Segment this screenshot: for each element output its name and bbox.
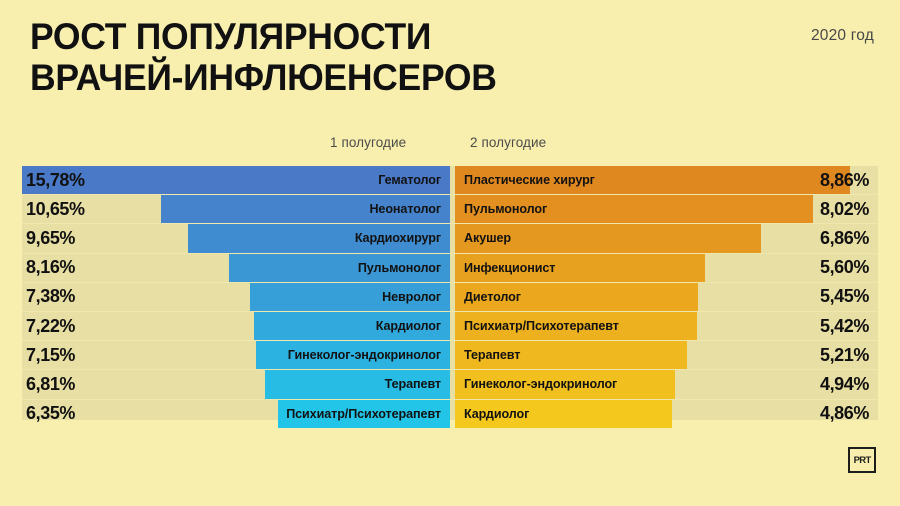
- chart-row: Гинеколог-эндокринолог7,15%Терапевт5,21%: [22, 340, 878, 369]
- bar-value-first-half: 9,65%: [26, 224, 75, 252]
- column-caption-first-half: 1 полугодие: [330, 135, 406, 150]
- bar-value-second-half: 5,21%: [820, 341, 869, 369]
- bar-value-second-half: 4,86%: [820, 400, 869, 428]
- page-title: РОСТ ПОПУЛЯРНОСТИ ВРАЧЕЙ-ИНФЛЮЕНСЕРОВ: [30, 16, 702, 99]
- row-left-half: Неонатолог10,65%: [22, 195, 450, 223]
- bar-value-first-half: 7,38%: [26, 283, 75, 311]
- bar-label-first-half: Кардиохирург: [355, 231, 441, 245]
- chart-row: Гематолог15,78%Пластические хирург8,86%: [22, 166, 878, 194]
- bar-label-second-half: Диетолог: [464, 283, 521, 311]
- bar-first-half: Кардиохирург: [188, 224, 450, 252]
- row-right-half: Акушер6,86%: [455, 224, 878, 252]
- row-right-half: Психиатр/Психотерапевт5,42%: [455, 312, 878, 340]
- bar-first-half: Психиатр/Психотерапевт: [278, 400, 450, 428]
- row-right-half: Пульмонолог8,02%: [455, 195, 878, 223]
- bar-first-half: Терапевт: [265, 370, 450, 398]
- chart-band: Гематолог15,78%Пластические хирург8,86%Н…: [22, 166, 878, 420]
- chart-row: Невролог7,38%Диетолог5,45%: [22, 282, 878, 311]
- bar-label-second-half: Кардиолог: [464, 400, 529, 428]
- row-left-half: Кардиолог7,22%: [22, 312, 450, 340]
- bar-label-first-half: Терапевт: [385, 377, 441, 391]
- year-label: 2020 год: [811, 27, 874, 45]
- row-left-half: Терапевт6,81%: [22, 370, 450, 398]
- bar-value-second-half: 5,60%: [820, 254, 869, 282]
- bar-label-second-half: Психиатр/Психотерапевт: [464, 312, 619, 340]
- bar-value-second-half: 5,45%: [820, 283, 869, 311]
- bar-label-first-half: Гинеколог-эндокринолог: [288, 348, 441, 362]
- infographic-page: РОСТ ПОПУЛЯРНОСТИ ВРАЧЕЙ-ИНФЛЮЕНСЕРОВ 20…: [0, 0, 900, 506]
- bar-label-first-half: Кардиолог: [376, 319, 441, 333]
- row-right-half: Терапевт5,21%: [455, 341, 878, 369]
- bar-first-half: Гинеколог-эндокринолог: [256, 341, 450, 369]
- row-right-half: Диетолог5,45%: [455, 283, 878, 311]
- bar-label-first-half: Невролог: [382, 290, 441, 304]
- bar-label-first-half: Неонатолог: [369, 202, 441, 216]
- chart-row: Психиатр/Психотерапевт6,35%Кардиолог4,86…: [22, 399, 878, 428]
- bar-value-first-half: 15,78%: [26, 166, 85, 194]
- chart-row: Пульмонолог8,16%Инфекционист5,60%: [22, 253, 878, 282]
- bar-value-first-half: 8,16%: [26, 254, 75, 282]
- bar-label-second-half: Пульмонолог: [464, 195, 547, 223]
- bar-value-first-half: 7,22%: [26, 312, 75, 340]
- bar-first-half: Пульмонолог: [229, 254, 450, 282]
- row-left-half: Кардиохирург9,65%: [22, 224, 450, 252]
- bar-first-half: Кардиолог: [254, 312, 450, 340]
- bar-value-first-half: 7,15%: [26, 341, 75, 369]
- bar-value-second-half: 5,42%: [820, 312, 869, 340]
- bar-value-first-half: 6,35%: [26, 400, 75, 428]
- bar-first-half: Неонатолог: [161, 195, 450, 223]
- row-right-half: Кардиолог4,86%: [455, 400, 878, 428]
- row-right-half: Инфекционист5,60%: [455, 254, 878, 282]
- row-left-half: Пульмонолог8,16%: [22, 254, 450, 282]
- row-left-half: Гинеколог-эндокринолог7,15%: [22, 341, 450, 369]
- row-left-half: Психиатр/Психотерапевт6,35%: [22, 400, 450, 428]
- chart-row: Терапевт6,81%Гинеколог-эндокринолог4,94%: [22, 369, 878, 398]
- row-left-half: Невролог7,38%: [22, 283, 450, 311]
- publisher-logo: PRT: [848, 447, 876, 473]
- chart-row: Кардиолог7,22%Психиатр/Психотерапевт5,42…: [22, 311, 878, 340]
- bar-label-second-half: Пластические хирург: [464, 166, 595, 194]
- chart-row: Кардиохирург9,65%Акушер6,86%: [22, 223, 878, 252]
- bar-first-half: Гематолог: [22, 166, 450, 194]
- bar-first-half: Невролог: [250, 283, 450, 311]
- bar-value-first-half: 10,65%: [26, 195, 85, 223]
- bar-label-second-half: Терапевт: [464, 341, 520, 369]
- bar-value-second-half: 4,94%: [820, 370, 869, 398]
- row-right-half: Пластические хирург8,86%: [455, 166, 878, 194]
- chart-row: Неонатолог10,65%Пульмонолог8,02%: [22, 194, 878, 223]
- bar-value-first-half: 6,81%: [26, 370, 75, 398]
- bar-value-second-half: 8,86%: [820, 166, 869, 194]
- logo-mark: PRT: [853, 455, 870, 465]
- bar-label-second-half: Гинеколог-эндокринолог: [464, 370, 617, 398]
- bar-label-first-half: Пульмонолог: [358, 261, 441, 275]
- bar-label-first-half: Психиатр/Психотерапевт: [286, 407, 441, 421]
- bar-value-second-half: 6,86%: [820, 224, 869, 252]
- row-left-half: Гематолог15,78%: [22, 166, 450, 194]
- bar-label-second-half: Акушер: [464, 224, 511, 252]
- bar-label-first-half: Гематолог: [378, 173, 441, 187]
- column-caption-second-half: 2 полугодие: [470, 135, 546, 150]
- bar-value-second-half: 8,02%: [820, 195, 869, 223]
- bar-label-second-half: Инфекционист: [464, 254, 555, 282]
- row-right-half: Гинеколог-эндокринолог4,94%: [455, 370, 878, 398]
